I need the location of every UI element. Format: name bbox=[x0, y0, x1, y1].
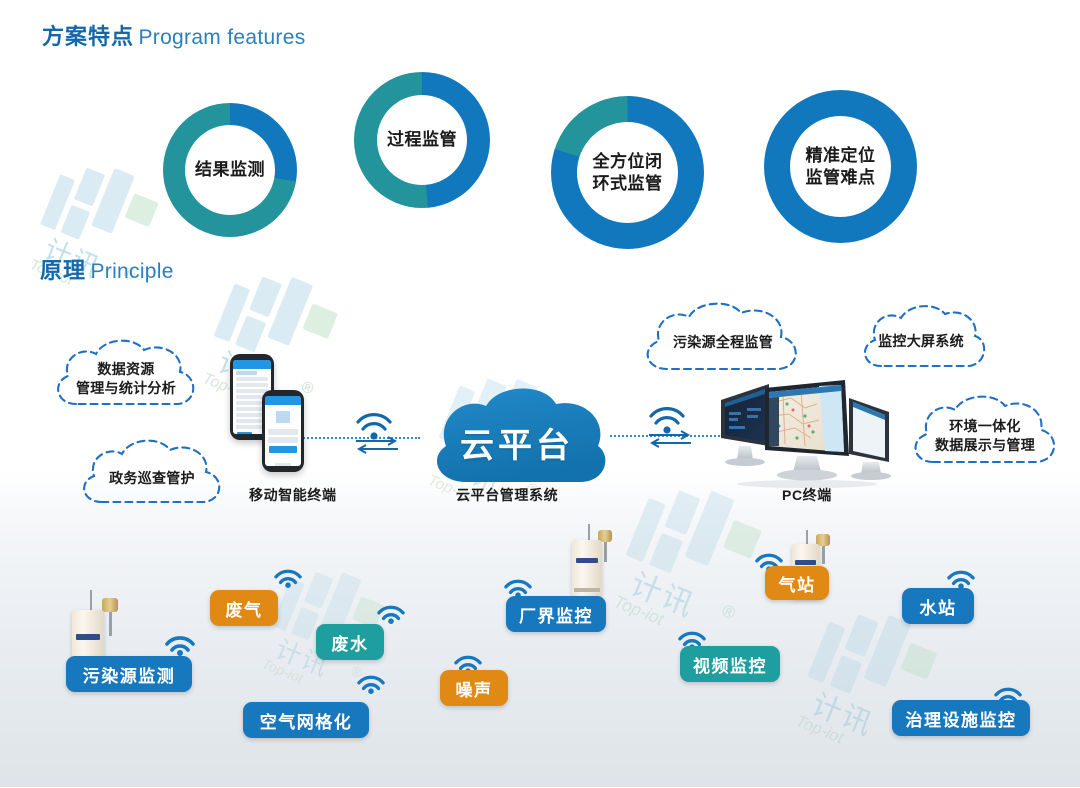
phone-front bbox=[262, 390, 304, 472]
infographic-canvas: 计讯 ® Top-iot 计讯 ® Top-iot bbox=[0, 0, 1080, 787]
principle-title-en: Principle bbox=[90, 260, 173, 283]
feature-donut-4: 精准定位监管难点 bbox=[764, 90, 917, 243]
sensor-device-factory bbox=[570, 524, 628, 600]
feature-donut-4-hole: 精准定位监管难点 bbox=[790, 116, 891, 217]
feature-donut-1: 结果监测 bbox=[163, 103, 297, 237]
badge-noise[interactable]: 噪声 bbox=[440, 670, 508, 706]
thought-cloud-data-resource-label: 数据资源管理与统计分析 bbox=[48, 340, 204, 418]
phone-front-screen bbox=[265, 396, 301, 466]
feature-donut-2-label: 过程监管 bbox=[387, 129, 457, 150]
badge-pollution-source-monitoring-label: 污染源监测 bbox=[83, 662, 176, 687]
badge-waste-gas[interactable]: 废气 bbox=[210, 590, 278, 626]
feature-donut-1-label: 结果监测 bbox=[195, 159, 265, 180]
badge-noise-label: 噪声 bbox=[456, 676, 493, 701]
thought-cloud-environment-integration: 环境一体化数据展示与管理 bbox=[905, 388, 1065, 476]
badge-video-monitoring-label: 视频监控 bbox=[693, 652, 767, 677]
badge-treatment-facility-monitoring[interactable]: 治理设施监控 bbox=[892, 700, 1030, 736]
thought-cloud-government-inspection-label: 政务巡查管护 bbox=[72, 442, 232, 514]
badge-waste-water[interactable]: 废水 bbox=[316, 624, 384, 660]
badge-waste-water-label: 废水 bbox=[332, 630, 369, 655]
feature-donut-2-hole: 过程监管 bbox=[377, 95, 467, 185]
pc-monitors-graphic bbox=[713, 358, 903, 488]
badge-air-grid[interactable]: 空气网格化 bbox=[243, 702, 369, 738]
thought-cloud-government-inspection: 政务巡查管护 bbox=[72, 434, 232, 514]
wifi-exchange-icon-right bbox=[645, 402, 701, 457]
page-title-features: 方案特点 Program features bbox=[42, 19, 306, 51]
thought-cloud-environment-integration-label: 环境一体化数据展示与管理 bbox=[905, 396, 1065, 476]
feature-donut-3-label: 全方位闭环式监管 bbox=[593, 151, 663, 194]
badge-video-monitoring[interactable]: 视频监控 bbox=[680, 646, 780, 682]
wifi-icon-waste-gas bbox=[272, 562, 304, 593]
cloud-platform-label: 云平台 bbox=[422, 418, 612, 467]
cloud-platform-graphic: 云平台 bbox=[422, 382, 612, 492]
badge-pollution-source-monitoring[interactable]: 污染源监测 bbox=[66, 656, 192, 692]
badge-waste-gas-label: 废气 bbox=[226, 596, 263, 621]
badge-factory-boundary-monitoring-label: 厂界监控 bbox=[519, 602, 593, 627]
feature-donut-4-label: 精准定位监管难点 bbox=[806, 145, 876, 188]
wifi-icon-waste-water bbox=[375, 598, 407, 629]
thought-cloud-data-resource: 数据资源管理与统计分析 bbox=[48, 334, 204, 418]
feature-donut-3-hole: 全方位闭环式监管 bbox=[577, 122, 678, 223]
feature-donut-1-hole: 结果监测 bbox=[185, 125, 275, 215]
feature-donut-3: 全方位闭环式监管 bbox=[551, 96, 704, 249]
wifi-exchange-icon-left bbox=[352, 408, 408, 463]
feature-donut-2: 过程监管 bbox=[354, 72, 490, 208]
badge-treatment-facility-monitoring-label: 治理设施监控 bbox=[906, 706, 1017, 731]
wifi-icon-air-grid bbox=[355, 668, 387, 699]
badge-gas-station[interactable]: 气站 bbox=[765, 566, 829, 600]
badge-gas-station-label: 气站 bbox=[779, 571, 816, 596]
badge-air-grid-label: 空气网格化 bbox=[260, 708, 353, 733]
badge-water-station-label: 水站 bbox=[920, 594, 957, 619]
principle-title-cn: 原理 bbox=[40, 258, 86, 283]
badge-water-station[interactable]: 水站 bbox=[902, 588, 974, 624]
mobile-terminal-caption: 移动智能终端 bbox=[249, 485, 337, 505]
cloud-platform-caption: 云平台管理系统 bbox=[456, 485, 558, 505]
badge-factory-boundary-monitoring[interactable]: 厂界监控 bbox=[506, 596, 606, 632]
features-title-en: Program features bbox=[138, 26, 305, 49]
features-title-cn: 方案特点 bbox=[42, 24, 134, 49]
pc-terminal-caption: PC终端 bbox=[782, 485, 832, 505]
page-title-principle: 原理 Principle bbox=[40, 253, 174, 285]
